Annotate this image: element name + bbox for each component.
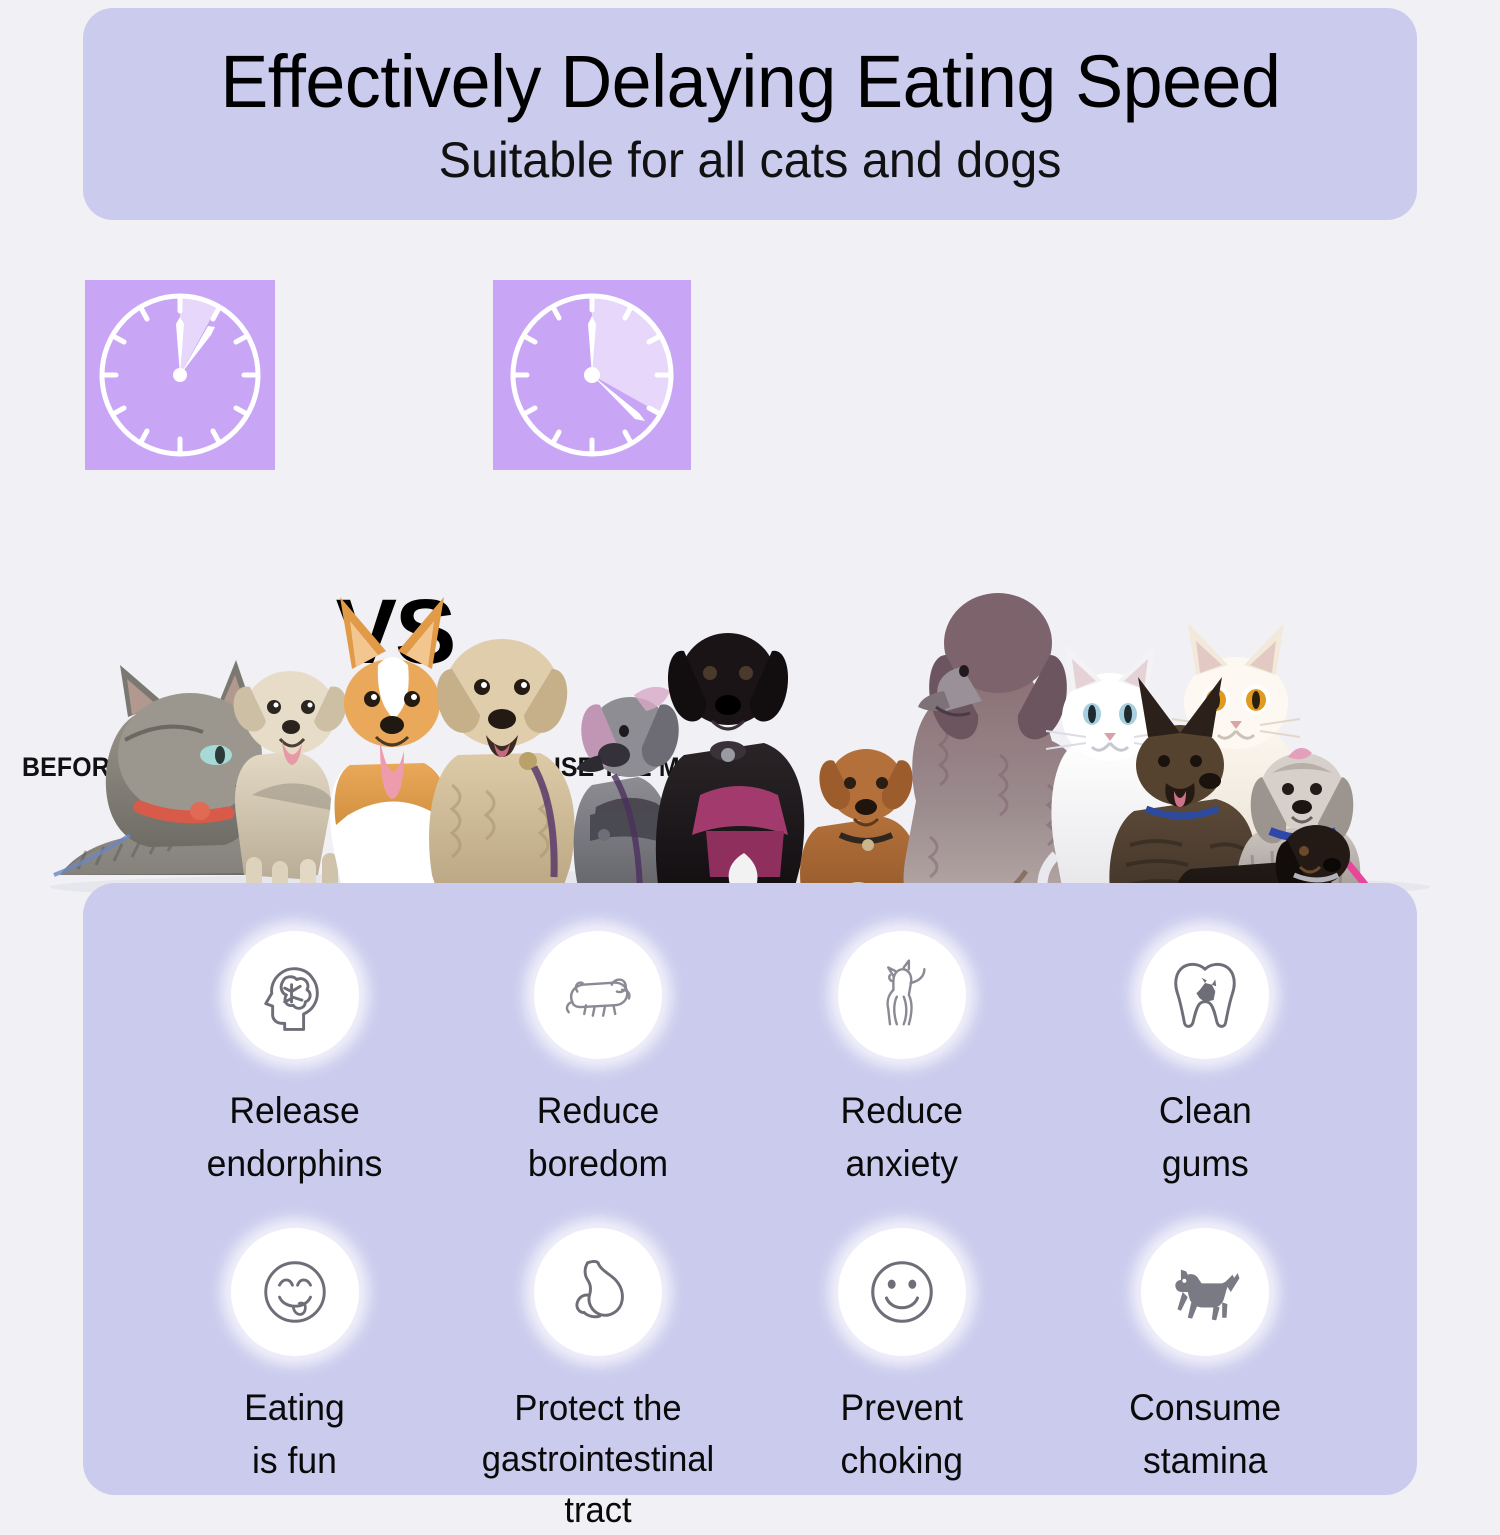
benefit-icon-wrap [534,931,662,1059]
before-clock-card [85,280,275,470]
clock-icon [85,280,275,470]
benefit-label: Consume stamina [1129,1382,1281,1487]
smiley-icon [859,1249,945,1335]
standing-dog-icon [859,952,945,1038]
stomach-icon [555,1249,641,1335]
benefits-panel: Release endorphins Reduce boredom [83,883,1417,1495]
after-clock-card [493,280,691,470]
benefit-label: Protect the gastrointestinal tract [478,1382,718,1535]
benefit-icon-wrap [838,1228,966,1356]
before-clock-box [85,280,275,470]
benefits-row-1: Release endorphins Reduce boredom [143,931,1357,1190]
benefit-consume-stamina[interactable]: Consume stamina [1080,1228,1330,1487]
benefit-icon-wrap [534,1228,662,1356]
page-subtitle: Suitable for all cats and dogs [439,133,1062,188]
benefit-label: Reduce boredom [528,1085,668,1190]
benefit-icon-wrap [838,931,966,1059]
benefit-icon-wrap [231,1228,359,1356]
brain-head-icon [252,952,338,1038]
sleeping-dog-icon [555,952,641,1038]
benefit-protect-gi-tract[interactable]: Protect the gastrointestinal tract [473,1228,723,1535]
tooth-icon [1162,952,1248,1038]
pet-wheaten-terrier [429,639,575,921]
pet-terrier-puppy [234,671,347,905]
running-dog-icon [1162,1249,1248,1335]
benefit-reduce-anxiety[interactable]: Reduce anxiety [777,931,1027,1190]
benefit-icon-wrap [231,931,359,1059]
benefit-prevent-choking[interactable]: Prevent choking [777,1228,1027,1487]
after-clock-box [493,280,691,470]
header-banner: Effectively Delaying Eating Speed Suitab… [83,8,1417,220]
benefit-release-endorphins[interactable]: Release endorphins [170,931,420,1190]
benefit-reduce-boredom[interactable]: Reduce boredom [473,931,723,1190]
pet-black-labrador [656,633,804,925]
benefit-label: Reduce anxiety [841,1085,963,1190]
benefit-label: Release endorphins [207,1085,383,1190]
tongue-smiley-icon [252,1249,338,1335]
pets-lineup-illustration [0,455,1500,925]
benefit-icon-wrap [1141,1228,1269,1356]
benefit-eating-is-fun[interactable]: Eating is fun [170,1228,420,1487]
benefit-label: Prevent choking [841,1382,963,1487]
benefits-row-2: Eating is fun Protect the gastrointestin… [143,1228,1357,1535]
benefit-label: Eating is fun [244,1382,345,1487]
pets-photo-band [0,455,1500,925]
benefit-icon-wrap [1141,931,1269,1059]
clock-icon [493,280,691,470]
page-title: Effectively Delaying Eating Speed [220,44,1280,119]
benefit-clean-gums[interactable]: Clean gums [1080,931,1330,1190]
benefit-label: Clean gums [1159,1085,1252,1190]
